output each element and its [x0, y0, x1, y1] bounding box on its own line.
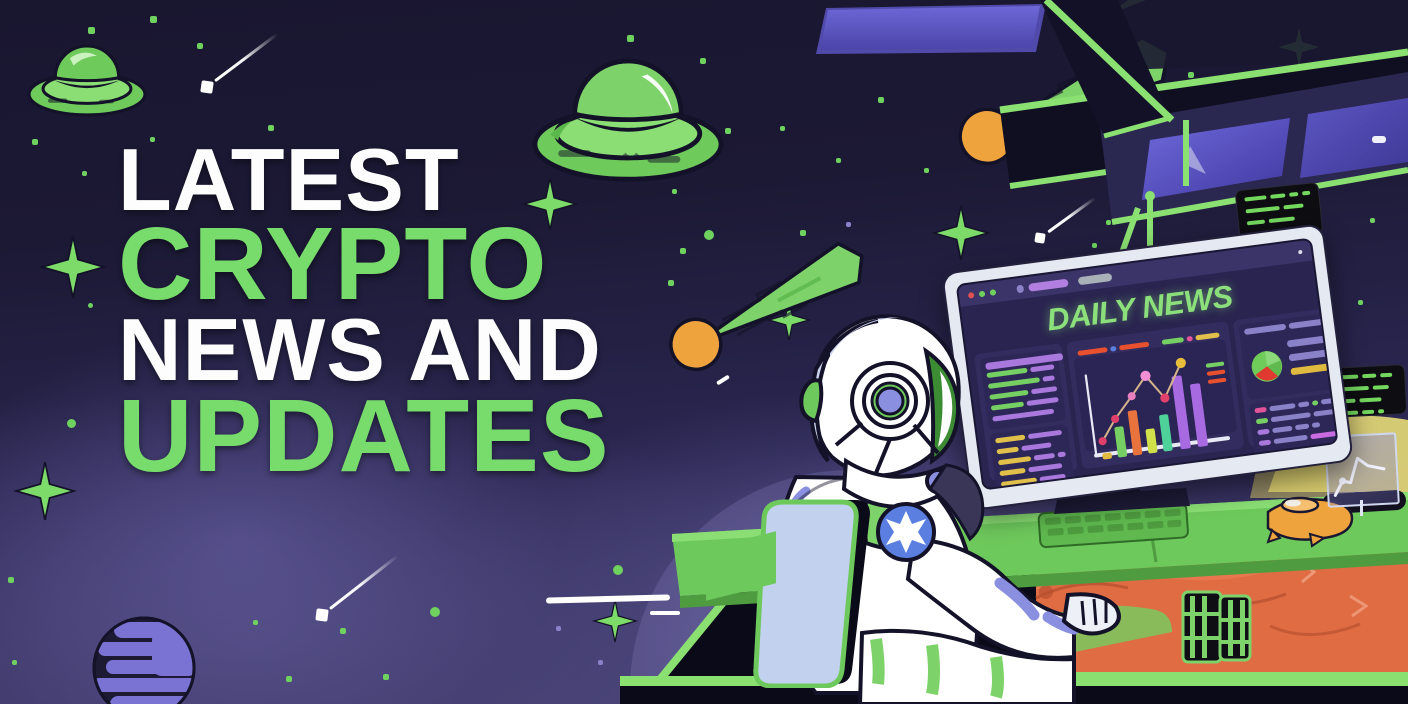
pie-chart [1246, 338, 1288, 394]
dashboard-right-panel [1233, 307, 1339, 448]
headline-line-2: CRYPTO [118, 217, 678, 312]
holo-stem [1360, 500, 1363, 516]
titlebar-dot-right [1298, 249, 1302, 253]
titlebar-pill [1028, 278, 1069, 291]
pilot-chair [744, 498, 884, 688]
headline-line-4: UPDATES [118, 389, 678, 484]
titlebar-pill [1078, 272, 1113, 284]
headline: LATEST CRYPTO NEWS AND UPDATES [118, 140, 678, 483]
banner-illustration: DAILY NEWS [0, 0, 1408, 704]
titlebar-pill [1016, 284, 1024, 293]
